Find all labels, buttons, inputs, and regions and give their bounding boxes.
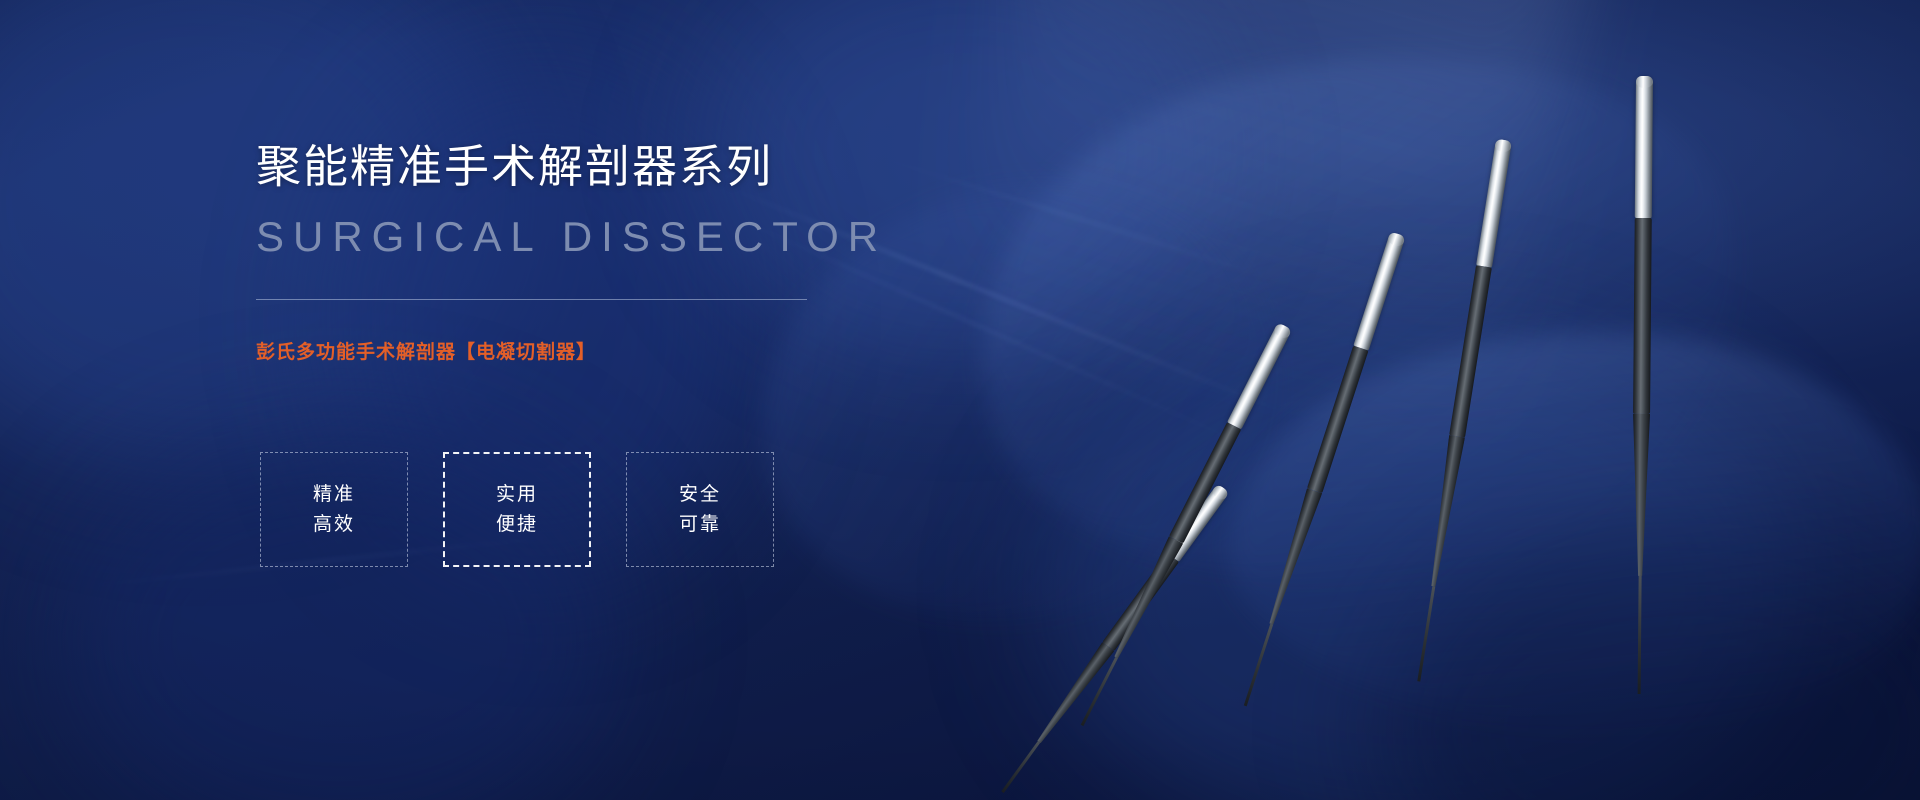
product-name-label: 彭氏多功能手术解剖器【电凝切割器】 (256, 337, 596, 364)
divider-line (256, 299, 807, 300)
feature-badge-2-line1: 实用 (496, 480, 538, 509)
feature-badge-1-line2: 高效 (313, 510, 355, 539)
feature-badge-2[interactable]: 实用 便捷 (443, 452, 591, 567)
banner-text-block: 聚能精准手术解剖器系列 SURGICAL DISSECTOR 彭氏多功能手术解剖… (256, 0, 1076, 800)
product-banner: 聚能精准手术解剖器系列 SURGICAL DISSECTOR 彭氏多功能手术解剖… (0, 0, 1920, 800)
feature-badge-2-line2: 便捷 (496, 510, 538, 539)
page-title: 聚能精准手术解剖器系列 (256, 140, 773, 194)
feature-badge-list: 精准 高效 实用 便捷 安全 可靠 (260, 452, 774, 567)
feature-badge-1[interactable]: 精准 高效 (260, 452, 408, 567)
feature-badge-1-line1: 精准 (313, 480, 355, 509)
feature-badge-3-line2: 可靠 (679, 510, 721, 539)
feature-badge-3-line1: 安全 (679, 480, 721, 509)
page-subtitle-en: SURGICAL DISSECTOR (256, 212, 887, 262)
feature-badge-3[interactable]: 安全 可靠 (626, 452, 774, 567)
